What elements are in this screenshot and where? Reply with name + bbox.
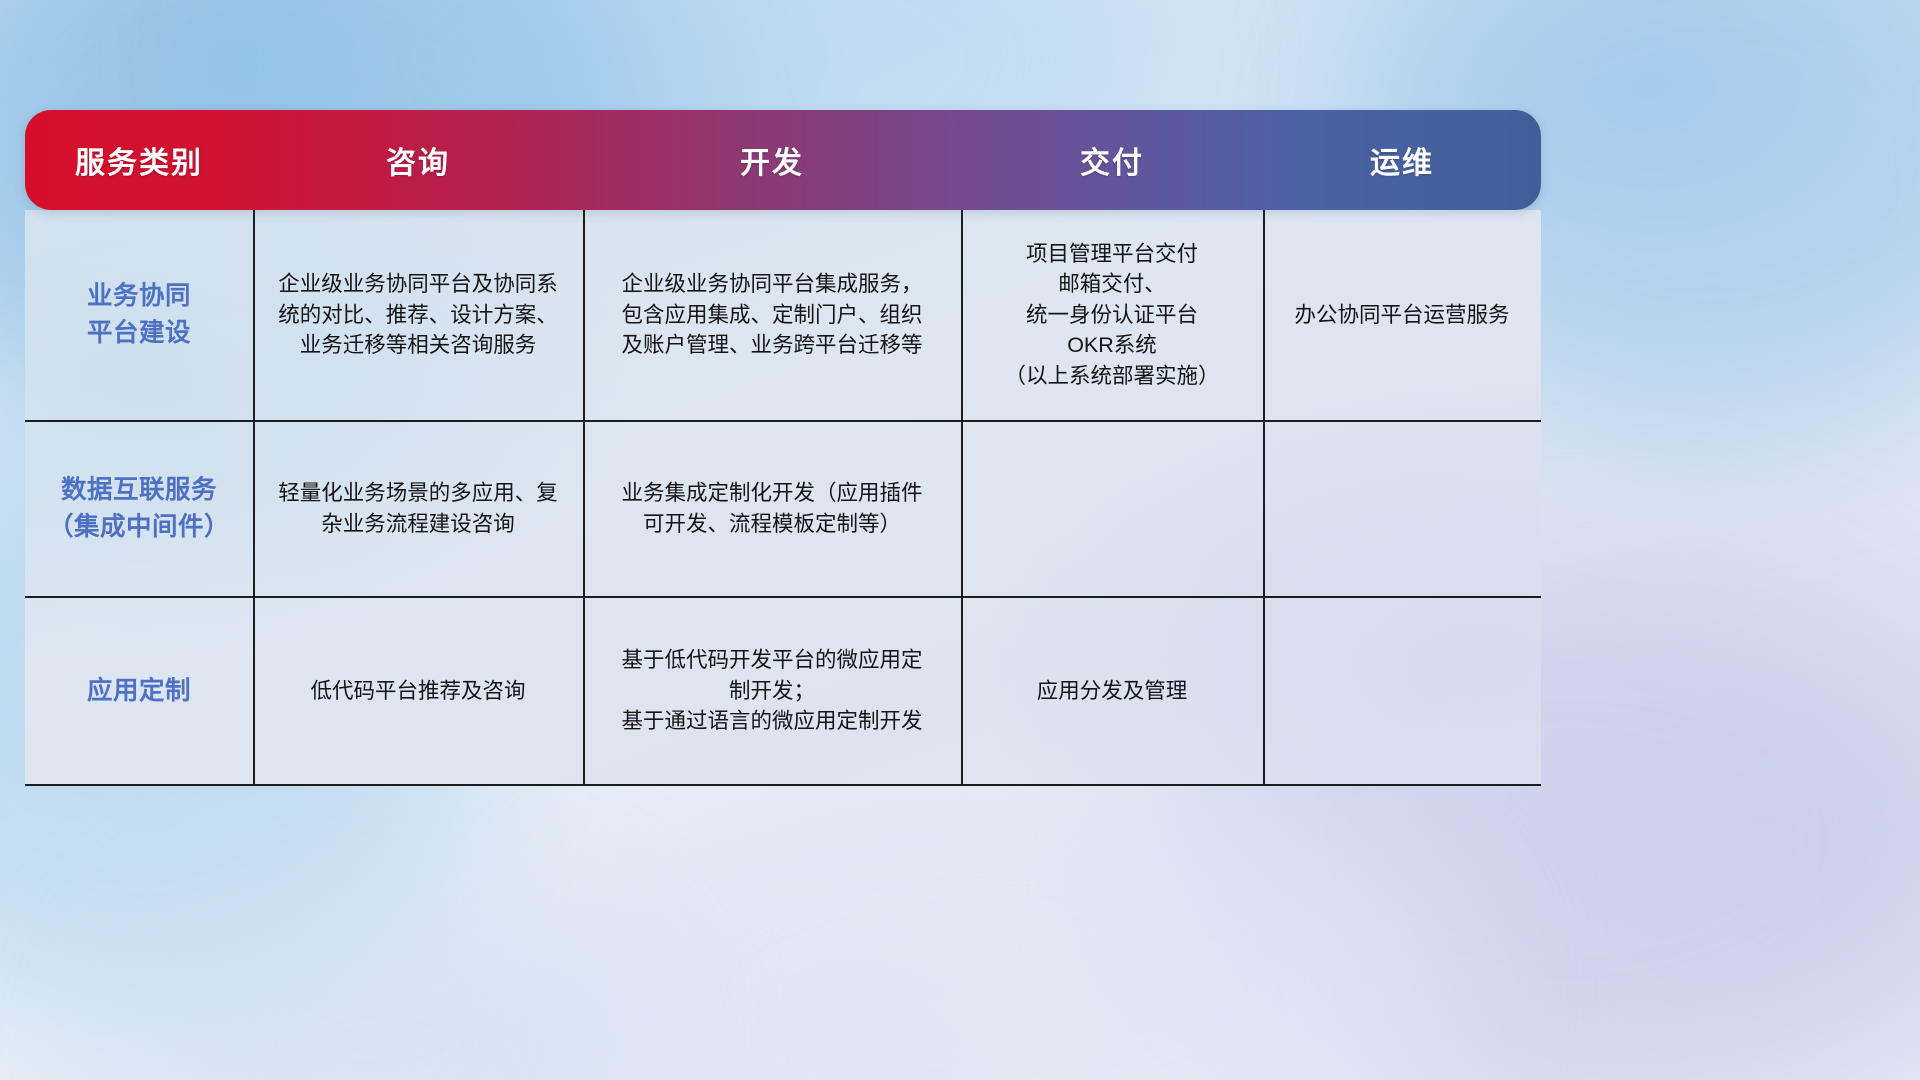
row-label-business-collaboration: 业务协同 平台建设 — [25, 210, 253, 420]
cell-consulting: 轻量化业务场景的多应用、复 杂业务流程建设咨询 — [253, 422, 583, 596]
cell-delivery — [961, 422, 1263, 596]
table-body: 业务协同 平台建设 企业级业务协同平台及协同系 统的对比、推荐、设计方案、 业务… — [25, 210, 1541, 786]
column-header-category: 服务类别 — [25, 110, 253, 210]
cell-development: 企业级业务协同平台集成服务， 包含应用集成、定制门户、组织 及账户管理、业务跨平… — [583, 210, 961, 420]
column-header-consulting: 咨询 — [253, 110, 583, 210]
table-row: 应用定制 低代码平台推荐及咨询 基于低代码开发平台的微应用定 制开发； 基于通过… — [25, 596, 1541, 784]
slide-canvas: 服务类别 咨询 开发 交付 运维 业务协同 平台建设 企业级业务协同平台及协同系… — [0, 0, 1920, 1080]
table-row: 数据互联服务 （集成中间件） 轻量化业务场景的多应用、复 杂业务流程建设咨询 业… — [25, 420, 1541, 596]
cell-consulting: 企业级业务协同平台及协同系 统的对比、推荐、设计方案、 业务迁移等相关咨询服务 — [253, 210, 583, 420]
column-header-operations: 运维 — [1263, 110, 1541, 210]
service-matrix-table: 服务类别 咨询 开发 交付 运维 业务协同 平台建设 企业级业务协同平台及协同系… — [25, 110, 1541, 786]
table-header-row: 服务类别 咨询 开发 交付 运维 — [25, 110, 1541, 210]
cell-development: 业务集成定制化开发（应用插件 可开发、流程模板定制等） — [583, 422, 961, 596]
cell-development: 基于低代码开发平台的微应用定 制开发； 基于通过语言的微应用定制开发 — [583, 598, 961, 784]
row-label-data-interconnect: 数据互联服务 （集成中间件） — [25, 422, 253, 596]
cell-delivery: 项目管理平台交付 邮箱交付、 统一身份认证平台 OKR系统 （以上系统部署实施） — [961, 210, 1263, 420]
column-header-delivery: 交付 — [961, 110, 1263, 210]
cell-operations — [1263, 598, 1541, 784]
table-row: 业务协同 平台建设 企业级业务协同平台及协同系 统的对比、推荐、设计方案、 业务… — [25, 210, 1541, 420]
cell-consulting: 低代码平台推荐及咨询 — [253, 598, 583, 784]
cell-delivery: 应用分发及管理 — [961, 598, 1263, 784]
cell-operations: 办公协同平台运营服务 — [1263, 210, 1541, 420]
column-header-development: 开发 — [583, 110, 961, 210]
cell-operations — [1263, 422, 1541, 596]
row-label-app-customization: 应用定制 — [25, 598, 253, 784]
